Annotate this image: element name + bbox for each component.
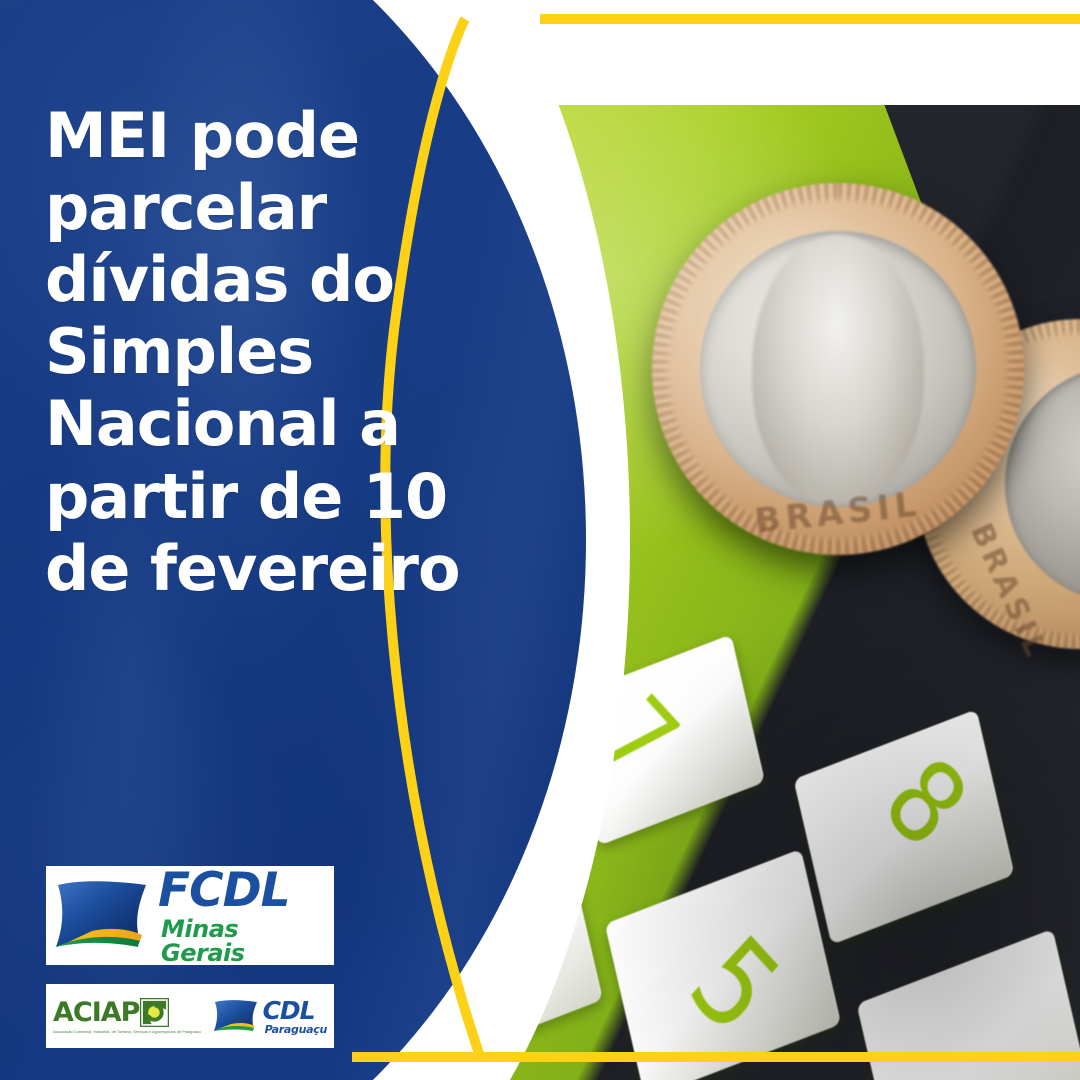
poster-canvas: 7 8 5 BRASIL BRASIL MEI pode pa xyxy=(0,0,1080,1080)
yellow-line-top xyxy=(540,14,1080,24)
cdl-flag-icon xyxy=(212,999,260,1033)
yellow-line-bottom xyxy=(352,1052,1080,1062)
aciap-lockup: ACIAP xyxy=(53,998,169,1027)
aciap-subtitle: Associação Comercial, Industrial, de Tur… xyxy=(53,1030,201,1034)
aciap-name: ACIAP xyxy=(53,999,139,1026)
logo-fcdl-minas-gerais: FCDL Minas Gerais xyxy=(46,866,334,965)
logo-cdl-paraguacu: CDL Paraguaçu xyxy=(212,998,327,1035)
logo-aciap: ACIAP Associação Comercial, Industrial, … xyxy=(53,998,198,1034)
fcdl-subtitle: Minas Gerais xyxy=(161,917,328,965)
fcdl-flag-icon xyxy=(52,879,152,953)
aciap-spiral-icon xyxy=(140,998,169,1027)
logo-row-aciap-cdl: ACIAP Associação Comercial, Industrial, … xyxy=(46,984,334,1048)
fcdl-wordmark: FCDL Minas Gerais xyxy=(158,867,328,965)
page-title: MEI pode parcelar dívidas do Simples Nac… xyxy=(45,100,515,606)
fcdl-name: FCDL xyxy=(158,867,328,914)
cdl-name: CDL xyxy=(263,998,327,1023)
cdl-subtitle: Paraguaçu xyxy=(265,1024,327,1035)
cdl-wordmark: CDL Paraguaçu xyxy=(263,998,327,1035)
